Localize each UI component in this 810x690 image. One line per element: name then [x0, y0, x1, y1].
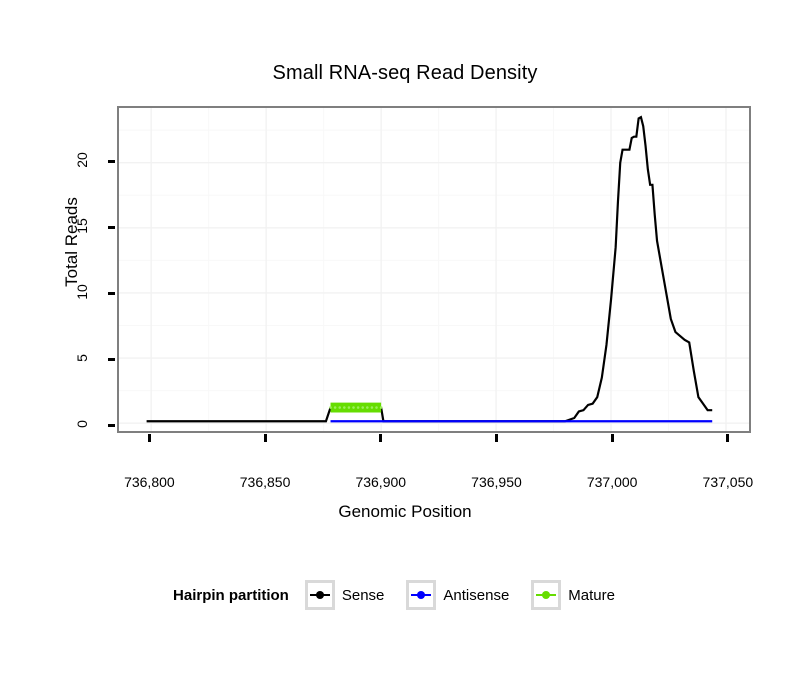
x-tick-mark: [495, 434, 498, 442]
x-tick-label: 736,950: [451, 474, 541, 490]
y-tick-label: 5: [74, 338, 90, 378]
x-tick-mark: [726, 434, 729, 442]
y-tick-label: 0: [74, 404, 90, 444]
legend-entry-sense[interactable]: Sense: [305, 580, 399, 610]
legend-label: Sense: [342, 587, 385, 604]
x-tick-mark: [148, 434, 151, 442]
x-tick-label: 737,050: [683, 474, 773, 490]
y-tick-mark: [108, 358, 115, 361]
legend-key-dot: [417, 591, 425, 599]
series-point-mature: [357, 406, 360, 409]
legend-key-sense-icon: [305, 580, 335, 610]
legend-entry-mature[interactable]: Mature: [531, 580, 629, 610]
legend-title: Hairpin partition: [173, 587, 289, 604]
x-tick-label: 736,800: [104, 474, 194, 490]
legend-key-dot: [542, 591, 550, 599]
x-tick-label: 736,900: [336, 474, 426, 490]
series-point-mature: [343, 406, 346, 409]
x-tick-label: 737,000: [567, 474, 657, 490]
series-point-mature: [348, 406, 351, 409]
y-tick-mark: [108, 160, 115, 163]
y-tick-label: 20: [74, 140, 90, 180]
y-tick-mark: [108, 292, 115, 295]
series-line-sense: [147, 117, 713, 421]
chart-figure: Small RNA-seq Read Density Total Reads G…: [0, 0, 810, 690]
x-tick-label: 736,850: [220, 474, 310, 490]
legend-key-dot: [316, 591, 324, 599]
y-tick-label: 10: [74, 272, 90, 312]
chart-legend: Hairpin partition SenseAntisenseMature: [0, 580, 810, 610]
plot-panel: [117, 106, 751, 433]
data-series-layer: [119, 108, 749, 431]
y-tick-mark: [108, 424, 115, 427]
legend-key-antisense-icon: [406, 580, 436, 610]
series-point-mature: [352, 406, 355, 409]
chart-title: Small RNA-seq Read Density: [0, 62, 810, 85]
series-point-mature: [329, 406, 332, 409]
series-point-mature: [338, 406, 341, 409]
legend-entry-antisense[interactable]: Antisense: [406, 580, 523, 610]
series-point-mature: [375, 406, 378, 409]
x-tick-mark: [611, 434, 614, 442]
legend-key-mature-icon: [531, 580, 561, 610]
series-band-mature: [331, 403, 382, 413]
x-tick-mark: [379, 434, 382, 442]
y-tick-mark: [108, 226, 115, 229]
x-tick-mark: [264, 434, 267, 442]
series-point-mature: [380, 406, 383, 409]
legend-label: Mature: [568, 587, 615, 604]
series-point-mature: [361, 406, 364, 409]
y-tick-label: 15: [74, 206, 90, 246]
series-point-mature: [334, 406, 337, 409]
x-axis-title: Genomic Position: [0, 502, 810, 522]
legend-label: Antisense: [443, 587, 509, 604]
series-point-mature: [366, 406, 369, 409]
series-point-mature: [371, 406, 374, 409]
